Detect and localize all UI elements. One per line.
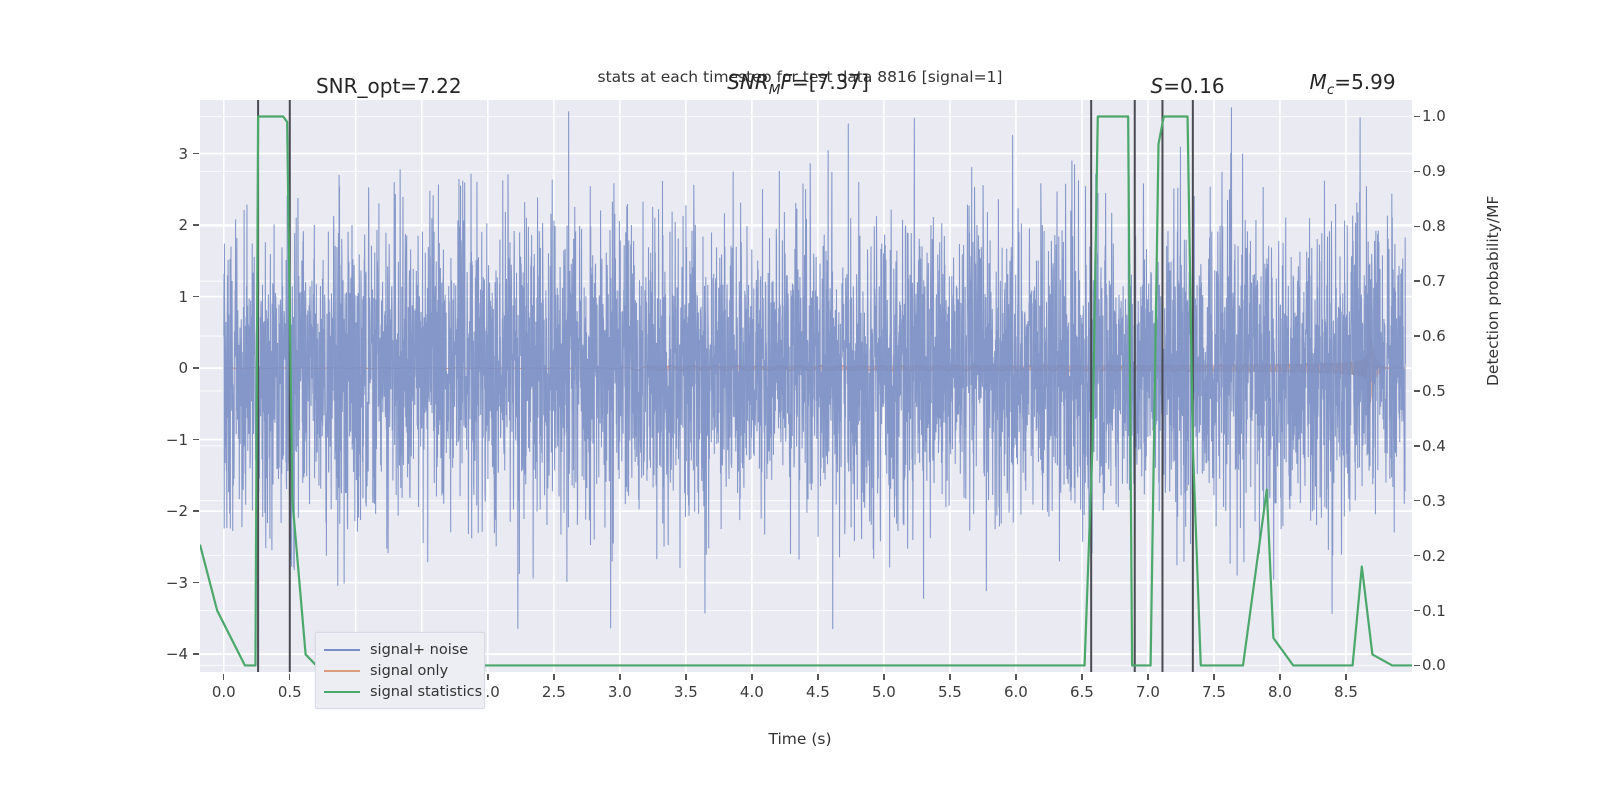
y-tick-left-0: 3 [178, 145, 188, 163]
y-tick-right-8: 0.2 [1422, 547, 1446, 565]
x-tick-1: 0.5 [278, 683, 302, 701]
y-tick-left-6: −3 [166, 574, 188, 592]
x-tick-6: 3.0 [608, 683, 632, 701]
annotation-snr-opt: SNR_opt=7.22 [316, 74, 462, 100]
x-tickmark-6 [619, 674, 620, 680]
y-tick-left-4: −1 [166, 431, 188, 449]
y-tickmark-right-6 [1414, 445, 1420, 446]
y-tick-left-1: 2 [178, 216, 188, 234]
y-tickmark-right-7 [1414, 500, 1420, 501]
y-tickmark-right-3 [1414, 280, 1420, 281]
y-axis-label-left: Whitened strain [0, 263, 2, 386]
x-tickmark-17 [1345, 674, 1346, 680]
legend-item-2[interactable]: signal statistics [324, 681, 476, 702]
plot-area [200, 100, 1412, 672]
legend-label: signal statistics [370, 684, 482, 700]
x-tick-5: 2.5 [542, 683, 566, 701]
y-tickmark-right-8 [1414, 555, 1420, 556]
x-tickmark-13 [1081, 674, 1082, 680]
legend-label: signal+ noise [370, 642, 468, 658]
signal-plus-noise-line [224, 107, 1406, 629]
y-tickmark-left-7 [193, 653, 199, 654]
annotation-snr-mf: SNRMF=[7.37] [727, 70, 869, 100]
figure-canvas: stats at each timestep for test data 881… [0, 0, 1600, 800]
x-tick-16: 8.0 [1268, 683, 1292, 701]
y-tickmark-left-2 [193, 296, 199, 297]
y-tick-right-4: 0.6 [1422, 327, 1446, 345]
legend-item-0[interactable]: signal+ noise [324, 639, 476, 660]
x-tick-14: 7.0 [1136, 683, 1160, 701]
y-tickmark-right-1 [1414, 171, 1420, 172]
y-tickmark-left-5 [193, 510, 199, 511]
x-tickmark-14 [1147, 674, 1148, 680]
x-tick-9: 4.5 [806, 683, 830, 701]
y-tick-left-7: −4 [166, 645, 188, 663]
y-tickmark-left-4 [193, 439, 199, 440]
y-tickmark-left-6 [193, 582, 199, 583]
legend-swatch-icon [324, 691, 360, 693]
legend-label: signal only [370, 663, 448, 679]
y-tickmark-right-10 [1414, 665, 1420, 666]
y-tick-right-7: 0.3 [1422, 492, 1446, 510]
x-tick-10: 5.0 [872, 683, 896, 701]
x-tickmark-12 [1015, 674, 1016, 680]
y-tick-right-10: 0.0 [1422, 656, 1446, 674]
legend-item-1[interactable]: signal only [324, 660, 476, 681]
y-tickmark-right-2 [1414, 226, 1420, 227]
legend-swatch-icon [324, 649, 360, 651]
y-tick-right-6: 0.4 [1422, 437, 1446, 455]
x-tickmark-10 [883, 674, 884, 680]
y-tickmark-right-0 [1414, 116, 1420, 117]
x-axis-label: Time (s) [0, 730, 1600, 748]
x-tickmark-4 [487, 674, 488, 680]
y-axis-label-right: Detection probability/MF [1484, 196, 1502, 386]
x-tick-17: 8.5 [1334, 683, 1358, 701]
x-tickmark-8 [751, 674, 752, 680]
y-tickmark-right-4 [1414, 335, 1420, 336]
x-tickmark-16 [1279, 674, 1280, 680]
y-tick-right-3: 0.7 [1422, 272, 1446, 290]
y-tick-right-2: 0.8 [1422, 217, 1446, 235]
y-tick-left-2: 1 [178, 288, 188, 306]
x-tick-13: 6.5 [1070, 683, 1094, 701]
annotation-chirp-mass: Mc=5.99 [1310, 70, 1396, 100]
y-tick-right-5: 0.5 [1422, 382, 1446, 400]
x-tickmark-11 [949, 674, 950, 680]
x-tick-7: 3.5 [674, 683, 698, 701]
x-tickmark-1 [289, 674, 290, 680]
x-tickmark-9 [817, 674, 818, 680]
y-tickmark-left-3 [193, 367, 199, 368]
data-series-layer [200, 100, 1412, 672]
x-tick-15: 7.5 [1202, 683, 1226, 701]
y-tick-left-5: −2 [166, 502, 188, 520]
x-tick-12: 6.0 [1004, 683, 1028, 701]
y-tick-left-3: 0 [178, 359, 188, 377]
legend-swatch-icon [324, 670, 360, 672]
x-tick-0: 0.0 [212, 683, 236, 701]
y-tickmark-right-9 [1414, 610, 1420, 611]
x-tickmark-7 [685, 674, 686, 680]
x-tick-11: 5.5 [938, 683, 962, 701]
chart-legend[interactable]: signal+ noisesignal onlysignal statistic… [315, 632, 485, 709]
x-tickmark-0 [223, 674, 224, 680]
y-tick-right-1: 0.9 [1422, 162, 1446, 180]
x-tickmark-15 [1213, 674, 1214, 680]
y-tickmark-left-1 [193, 224, 199, 225]
x-tick-8: 4.0 [740, 683, 764, 701]
y-tick-right-9: 0.1 [1422, 602, 1446, 620]
y-tickmark-left-0 [193, 153, 199, 154]
y-tickmark-right-5 [1414, 390, 1420, 391]
y-tick-right-0: 1.0 [1422, 107, 1446, 125]
annotation-detection-statistic: S=0.16 [1151, 74, 1225, 100]
x-tickmark-5 [553, 674, 554, 680]
